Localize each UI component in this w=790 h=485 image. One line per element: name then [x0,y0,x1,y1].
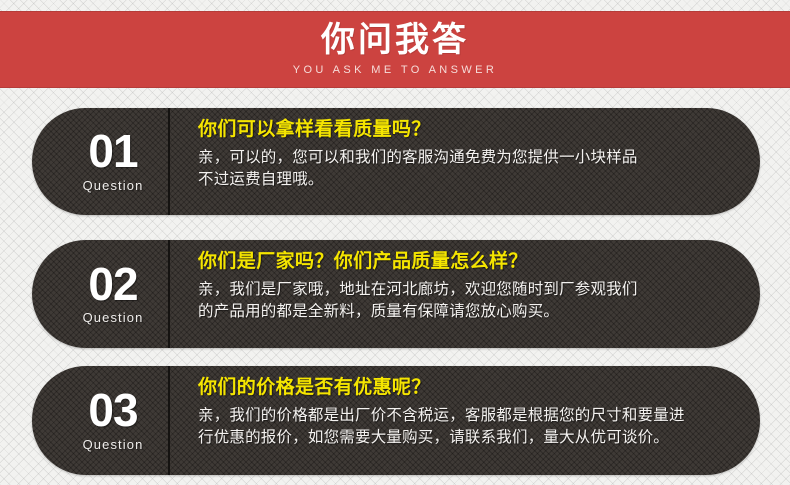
page-subtitle: YOU ASK ME TO ANSWER [293,64,498,76]
faq-answer: 亲，我们的价格都是出厂价不含税运，客服都是根据您的尺寸和要量进 行优惠的报价，如… [198,405,760,450]
faq-item[interactable]: 03 Question 你们的价格是否有优惠呢？ 亲，我们的价格都是出厂价不含税… [32,366,760,475]
faq-number-cell: 02 Question [32,240,170,348]
faq-number-label: Question [83,437,144,452]
faq-answer-line: 亲，我们的价格都是出厂价不含税运，客服都是根据您的尺寸和要量进 [198,405,760,427]
faq-answer-line: 不过运费自理哦。 [198,169,760,191]
page-title: 你问我答 [321,23,469,59]
faq-number: 01 [88,130,137,174]
faq-item[interactable]: 01 Question 你们可以拿样看看质量吗？ 亲，可以的，您可以和我们的客服… [32,108,760,215]
faq-answer: 亲，可以的，您可以和我们的客服沟通免费为您提供一小块样品 不过运费自理哦。 [198,147,760,192]
faq-number-label: Question [83,310,144,325]
faq-number-cell: 03 Question [32,366,170,475]
faq-text-cell: 你们是厂家吗？你们产品质量怎么样？ 亲，我们是厂家哦，地址在河北廊坊，欢迎您随时… [170,240,760,348]
header-banner: 你问我答 YOU ASK ME TO ANSWER [0,11,790,88]
faq-number-label: Question [83,178,144,193]
faq-text-cell: 你们的价格是否有优惠呢？ 亲，我们的价格都是出厂价不含税运，客服都是根据您的尺寸… [170,366,760,475]
faq-question: 你们是厂家吗？你们产品质量怎么样？ [198,251,760,274]
faq-number: 03 [88,389,137,433]
faq-question: 你们的价格是否有优惠呢？ [198,377,760,400]
faq-answer-line: 行优惠的报价，如您需要大量购买，请联系我们，量大从优可谈价。 [198,427,760,449]
faq-question: 你们可以拿样看看质量吗？ [198,119,760,142]
faq-number-cell: 01 Question [32,108,170,215]
faq-number: 02 [88,263,137,307]
faq-answer-line: 的产品用的都是全新料，质量有保障请您放心购买。 [198,301,760,323]
faq-page: 你问我答 YOU ASK ME TO ANSWER 01 Question 你们… [0,0,790,485]
faq-answer-line: 亲，可以的，您可以和我们的客服沟通免费为您提供一小块样品 [198,147,760,169]
faq-answer: 亲，我们是厂家哦，地址在河北廊坊，欢迎您随时到厂参观我们 的产品用的都是全新料，… [198,279,760,324]
faq-answer-line: 亲，我们是厂家哦，地址在河北廊坊，欢迎您随时到厂参观我们 [198,279,760,301]
faq-item[interactable]: 02 Question 你们是厂家吗？你们产品质量怎么样？ 亲，我们是厂家哦，地… [32,240,760,348]
faq-text-cell: 你们可以拿样看看质量吗？ 亲，可以的，您可以和我们的客服沟通免费为您提供一小块样… [170,108,760,215]
